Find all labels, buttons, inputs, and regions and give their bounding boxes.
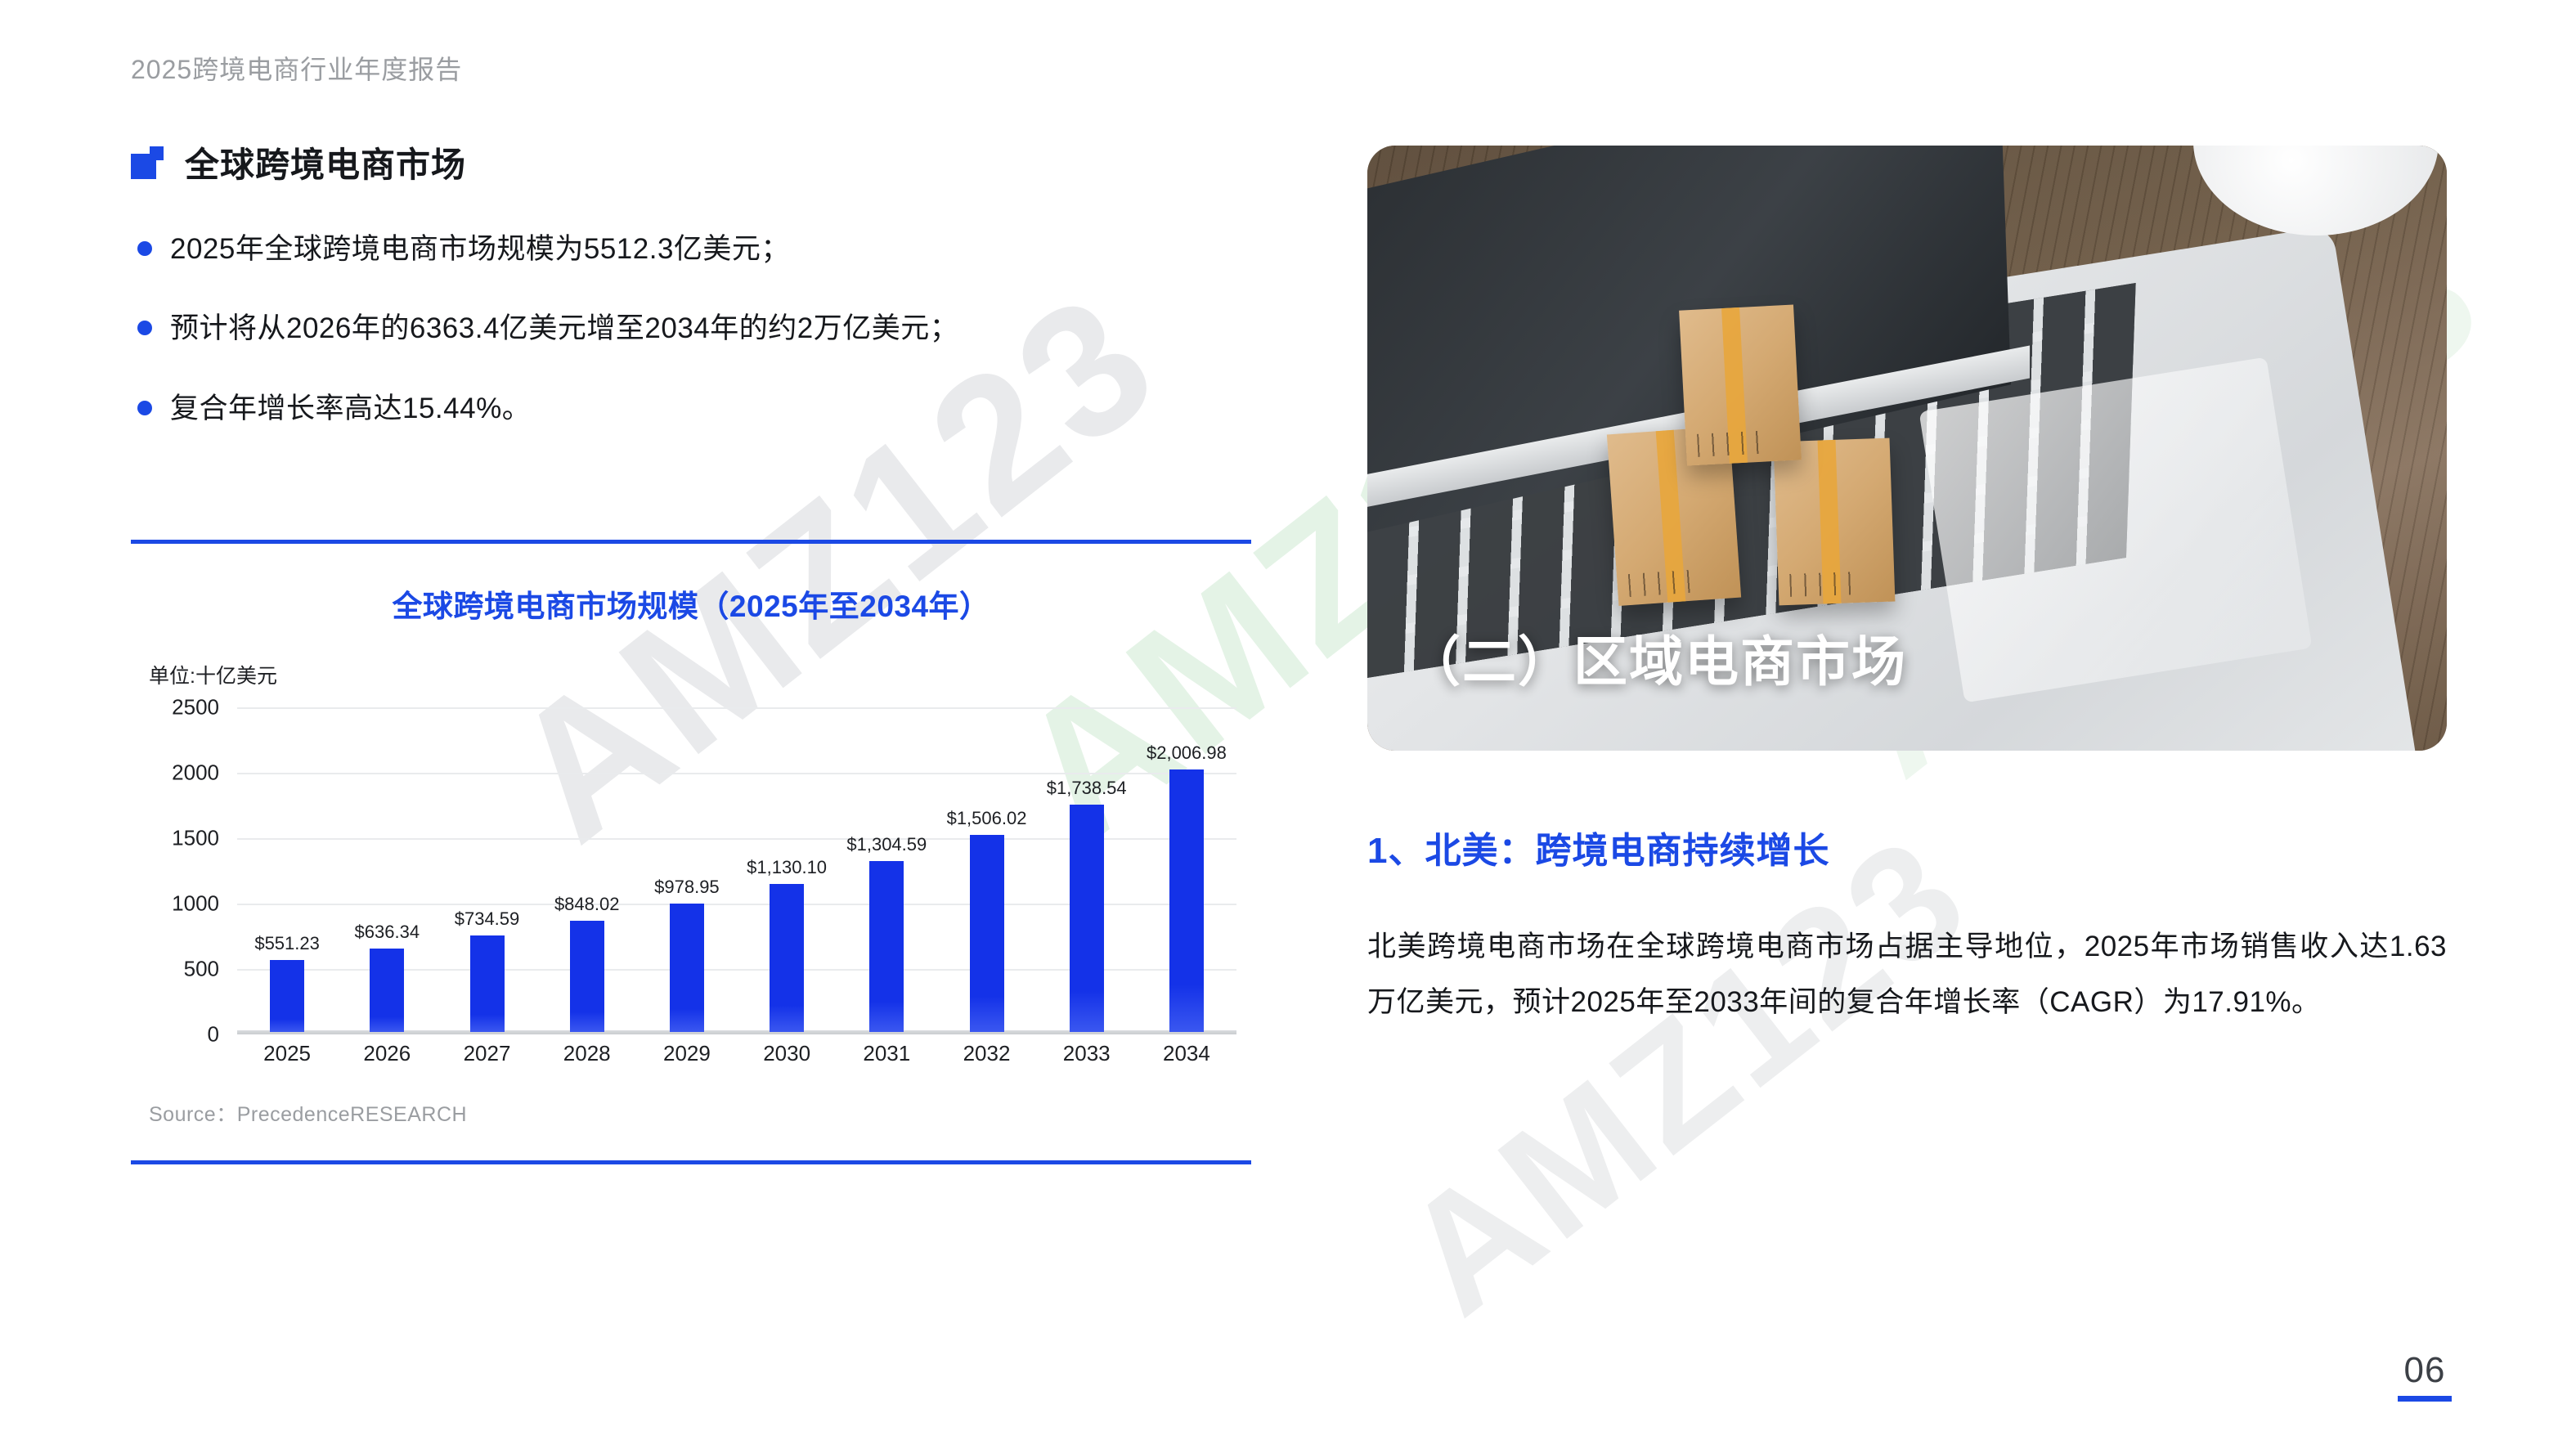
- document-header: 2025跨境电商行业年度报告: [131, 49, 462, 87]
- bar-value-label: $848.02: [554, 894, 620, 915]
- bullet-text: 复合年增长率高达15.44%。: [170, 389, 531, 428]
- bullet-dot-icon: [137, 401, 152, 415]
- bar-value-label: $1,506.02: [947, 808, 1027, 829]
- bar-slot: $551.23: [237, 705, 337, 1032]
- y-axis-tick: 2500: [172, 695, 219, 720]
- bar-slot: $1,738.54: [1037, 705, 1137, 1032]
- bar-slot: $1,506.02: [936, 705, 1036, 1032]
- blue-square-marker-icon: [131, 146, 164, 179]
- divider-bottom: [131, 1160, 1251, 1164]
- x-axis-tick: 2034: [1137, 1041, 1236, 1066]
- x-axis-tick: 2026: [337, 1041, 437, 1066]
- bar-slot: $978.95: [637, 705, 737, 1032]
- bar-value-label: $734.59: [455, 908, 520, 930]
- bar: [770, 884, 804, 1032]
- laptop-trackpad: [1919, 357, 2312, 703]
- bar: [370, 949, 404, 1032]
- bar-value-label: $978.95: [654, 877, 720, 898]
- y-axis-tick: 1500: [172, 826, 219, 851]
- chart-source: Source：PrecedenceRESEARCH: [149, 1098, 1251, 1128]
- bar-value-label: $2,006.98: [1147, 742, 1227, 764]
- bar: [1070, 805, 1104, 1032]
- divider-top: [131, 540, 1251, 544]
- cardboard-box-icon: [1774, 438, 1896, 606]
- photo-caption: （二）区域电商市场: [1407, 618, 1907, 697]
- y-axis: 25002000150010005000: [131, 707, 229, 1034]
- bar: [1169, 769, 1204, 1032]
- list-item: 预计将从2026年的6363.4亿美元增至2034年的约2万亿美元；: [137, 309, 1251, 348]
- bar: [970, 835, 1004, 1032]
- bar: [670, 904, 704, 1032]
- bar-slot: $1,304.59: [837, 705, 936, 1032]
- bar-slot: $848.02: [537, 705, 637, 1032]
- bar: [869, 861, 904, 1032]
- bar-value-label: $551.23: [254, 933, 320, 954]
- bullet-list: 2025年全球跨境电商市场规模为5512.3亿美元； 预计将从2026年的636…: [137, 230, 1251, 428]
- x-axis-tick: 2028: [537, 1041, 637, 1066]
- bar-slot: $2,006.98: [1137, 705, 1236, 1032]
- bar-slot: $1,130.10: [737, 705, 837, 1032]
- hero-photo-card: （二）区域电商市场: [1367, 146, 2447, 751]
- list-item: 2025年全球跨境电商市场规模为5512.3亿美元；: [137, 230, 1251, 268]
- bar-slot: $734.59: [437, 705, 536, 1032]
- page-number-value: 06: [2398, 1350, 2452, 1391]
- bar-value-label: $1,130.10: [747, 857, 827, 878]
- sub-heading: 1、北美：跨境电商持续增长: [1367, 821, 2447, 873]
- x-axis-tick: 2033: [1037, 1041, 1137, 1066]
- chart-block: 全球跨境电商市场规模（2025年至2034年） 单位:十亿美元 25002000…: [131, 540, 1251, 1164]
- bar-series: $551.23$636.34$734.59$848.02$978.95$1,13…: [237, 705, 1236, 1032]
- section-title: 全球跨境电商市场: [185, 137, 466, 187]
- body-paragraph: 北美跨境电商市场在全球跨境电商市场占据主导地位，2025年市场销售收入达1.63…: [1367, 919, 2447, 1031]
- chart-plot-area: 25002000150010005000 $551.23$636.34$734.…: [131, 707, 1251, 1067]
- report-page: AMZ123 AMZ123 AMZ123 AMZ123 2025跨境电商行业年度…: [0, 0, 2576, 1449]
- x-axis-tick: 2027: [437, 1041, 536, 1066]
- x-axis-tick: 2029: [637, 1041, 737, 1066]
- bar: [570, 921, 604, 1032]
- right-column: （二）区域电商市场 1、北美：跨境电商持续增长 北美跨境电商市场在全球跨境电商市…: [1367, 146, 2447, 1031]
- y-axis-tick: 0: [208, 1022, 219, 1047]
- bullet-text: 预计将从2026年的6363.4亿美元增至2034年的约2万亿美元；: [170, 309, 958, 348]
- bar: [470, 935, 505, 1032]
- bullet-text: 2025年全球跨境电商市场规模为5512.3亿美元；: [170, 230, 790, 268]
- left-column: 全球跨境电商市场 2025年全球跨境电商市场规模为5512.3亿美元； 预计将从…: [131, 137, 1251, 469]
- bar: [270, 960, 304, 1032]
- list-item: 复合年增长率高达15.44%。: [137, 389, 1251, 428]
- bullet-dot-icon: [137, 321, 152, 335]
- page-number: 06: [2398, 1350, 2452, 1402]
- bullet-dot-icon: [137, 241, 152, 256]
- cardboard-box-icon: [1679, 304, 1802, 465]
- chart-unit-label: 单位:十亿美元: [149, 660, 1251, 689]
- x-axis-tick: 2030: [737, 1041, 837, 1066]
- bar-value-label: $1,304.59: [846, 834, 927, 855]
- bar-value-label: $636.34: [355, 922, 420, 943]
- x-axis-tick: 2031: [837, 1041, 936, 1066]
- plot-canvas: $551.23$636.34$734.59$848.02$978.95$1,13…: [237, 707, 1236, 1034]
- y-axis-tick: 1000: [172, 891, 219, 917]
- bar-slot: $636.34: [337, 705, 437, 1032]
- y-axis-tick: 500: [184, 957, 219, 982]
- x-axis: 2025202620272028202920302031203220332034: [237, 1041, 1236, 1066]
- y-axis-tick: 2000: [172, 760, 219, 786]
- chart-title: 全球跨境电商市场规模（2025年至2034年）: [131, 581, 1251, 626]
- bar-value-label: $1,738.54: [1047, 778, 1127, 799]
- page-number-underline: [2398, 1396, 2452, 1402]
- x-axis-tick: 2025: [237, 1041, 337, 1066]
- x-axis-tick: 2032: [936, 1041, 1036, 1066]
- section-heading: 全球跨境电商市场: [131, 137, 1251, 187]
